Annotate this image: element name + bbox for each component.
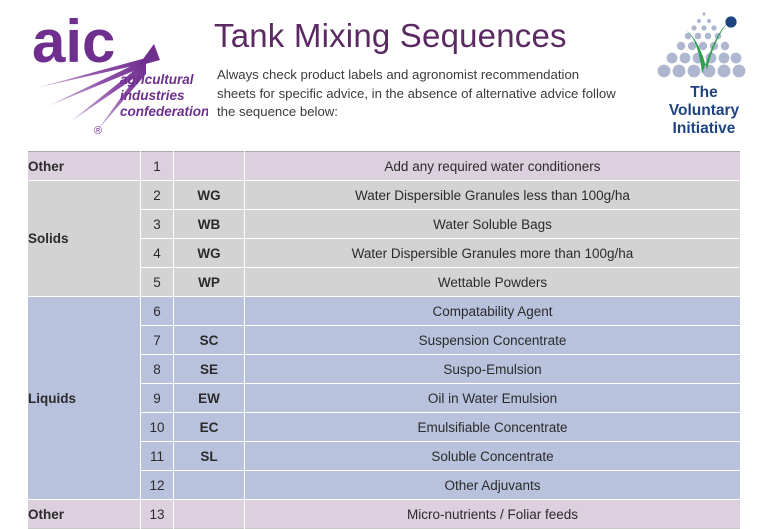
formulation-code: WP — [174, 268, 245, 297]
description: Oil in Water Emulsion — [245, 384, 741, 413]
aic-tagline-line1: agricultural — [120, 72, 194, 87]
aic-tagline-line3: confederation — [120, 104, 208, 119]
sequence-number: 2 — [141, 181, 174, 210]
sequence-number: 1 — [141, 152, 174, 181]
vi-logo-text: The Voluntary Initiative — [648, 84, 760, 138]
formulation-code: EC — [174, 413, 245, 442]
table-row: Solids 2 WG Water Dispersible Granules l… — [28, 181, 740, 210]
table-row: Other 13 Micro-nutrients / Foliar feeds — [28, 500, 740, 529]
formulation-code — [174, 297, 245, 326]
formulation-code: SL — [174, 442, 245, 471]
description: Soluble Concentrate — [245, 442, 741, 471]
description: Water Dispersible Granules less than 100… — [245, 181, 741, 210]
vi-triangle-dots-icon — [648, 8, 760, 82]
description: Add any required water conditioners — [245, 152, 741, 181]
formulation-code: WB — [174, 210, 245, 239]
sequence-number: 12 — [141, 471, 174, 500]
sequence-number: 9 — [141, 384, 174, 413]
page-subtitle: Always check product labels and agronomi… — [217, 66, 617, 122]
description: Compatability Agent — [245, 297, 741, 326]
formulation-code: SE — [174, 355, 245, 384]
sequence-number: 4 — [141, 239, 174, 268]
formulation-code — [174, 152, 245, 181]
page-header: aic agricultural industries confederatio… — [0, 0, 768, 150]
category-label-liquids: Liquids — [28, 297, 141, 500]
vi-blue-dot-icon — [725, 16, 736, 27]
voluntary-initiative-logo: The Voluntary Initiative — [648, 8, 760, 144]
formulation-code: WG — [174, 181, 245, 210]
title-block: Tank Mixing Sequences Always check produ… — [214, 16, 644, 122]
sequence-number: 6 — [141, 297, 174, 326]
formulation-code: EW — [174, 384, 245, 413]
formulation-code: WG — [174, 239, 245, 268]
sequence-number: 13 — [141, 500, 174, 529]
table-row: Other 1 Add any required water condition… — [28, 152, 740, 181]
description: Wettable Powders — [245, 268, 741, 297]
sequence-number: 3 — [141, 210, 174, 239]
aic-logo: aic agricultural industries confederatio… — [28, 14, 208, 142]
formulation-code — [174, 471, 245, 500]
description: Water Soluble Bags — [245, 210, 741, 239]
description: Suspension Concentrate — [245, 326, 741, 355]
category-label-other-bottom: Other — [28, 500, 141, 529]
category-label-solids: Solids — [28, 181, 141, 297]
formulation-code — [174, 500, 245, 529]
description: Micro-nutrients / Foliar feeds — [245, 500, 741, 529]
sequence-number: 7 — [141, 326, 174, 355]
aic-wordmark: aic — [32, 14, 115, 75]
aic-tagline-line2: industries — [120, 88, 185, 103]
tank-mixing-sequence-table: Other 1 Add any required water condition… — [28, 151, 740, 529]
vi-text-line3: Initiative — [648, 120, 760, 138]
sequence-number: 5 — [141, 268, 174, 297]
description: Water Dispersible Granules more than 100… — [245, 239, 741, 268]
sequence-number: 10 — [141, 413, 174, 442]
registered-trademark-icon: ® — [94, 125, 102, 137]
description: Other Adjuvants — [245, 471, 741, 500]
description: Emulsifiable Concentrate — [245, 413, 741, 442]
vi-text-line2: Voluntary — [648, 102, 760, 120]
table-row: Liquids 6 Compatability Agent — [28, 297, 740, 326]
category-label-other-top: Other — [28, 152, 141, 181]
vi-text-line1: The — [648, 84, 760, 102]
sequence-number: 11 — [141, 442, 174, 471]
sequence-number: 8 — [141, 355, 174, 384]
page-title: Tank Mixing Sequences — [214, 16, 644, 56]
formulation-code: SC — [174, 326, 245, 355]
description: Suspo-Emulsion — [245, 355, 741, 384]
